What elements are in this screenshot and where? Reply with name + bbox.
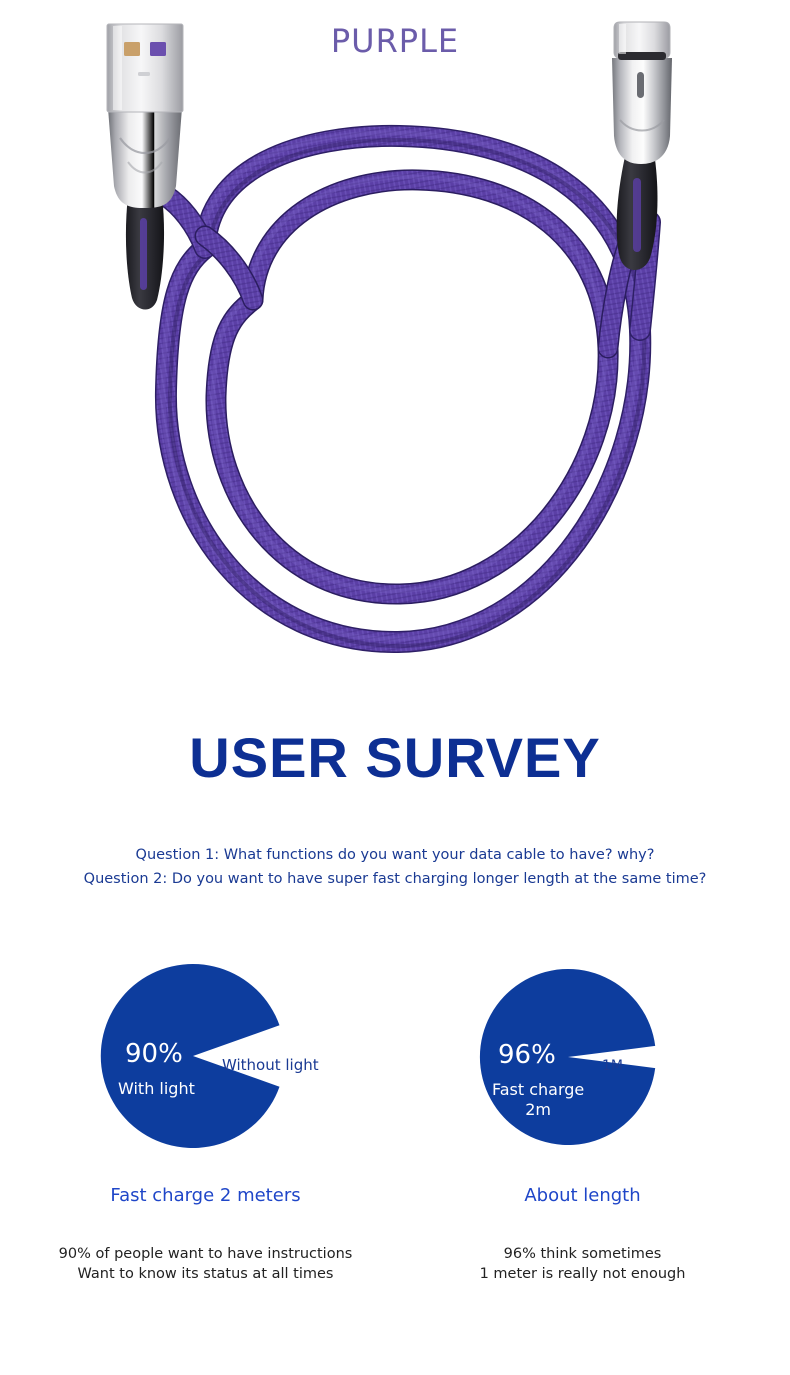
survey-questions: Question 1: What functions do you want y… xyxy=(0,843,790,891)
pie-outside-label-1m: 1M xyxy=(602,1059,623,1073)
chart-note-left: 90% of people want to have instructions … xyxy=(8,1244,403,1284)
product-image-area: PURPLE xyxy=(0,0,790,710)
pie-percent-with-light: 90% xyxy=(125,1041,183,1067)
survey-question-1: Question 1: What functions do you want y… xyxy=(0,843,790,867)
survey-question-2: Question 2: Do you want to have super fa… xyxy=(0,867,790,891)
usb-a-connector xyxy=(107,24,183,310)
chart-note-right-line1: 96% think sometimes xyxy=(385,1244,780,1264)
chart-caption-about-length: About length xyxy=(385,1184,780,1208)
pie-chart-svg xyxy=(0,945,395,1150)
chart-with-light xyxy=(0,945,395,1175)
pie-outside-label-without-light: Without light xyxy=(222,1058,319,1073)
cable-loop xyxy=(163,133,650,646)
chart-note-left-line2: Want to know its status at all times xyxy=(8,1264,403,1284)
pie-percent-fast-charge: 96% xyxy=(498,1042,556,1068)
pie-chart-svg xyxy=(395,945,790,1150)
pie-inside-label-fast-charge: Fast charge 2m xyxy=(492,1080,584,1120)
chart-note-right-line2: 1 meter is really not enough xyxy=(385,1264,780,1284)
chart-caption-fast-charge-2-meters: Fast charge 2 meters xyxy=(8,1184,403,1208)
pie-inside-label-with-light: With light xyxy=(118,1079,195,1099)
chart-note-right: 96% think sometimes 1 meter is really no… xyxy=(385,1244,780,1284)
pie-inside-label-line1: Fast charge xyxy=(492,1080,584,1099)
pie-with-light xyxy=(0,945,395,1150)
usb-cable-illustration xyxy=(0,0,790,710)
chart-note-left-line1: 90% of people want to have instructions xyxy=(8,1244,403,1264)
page-title: USER SURVEY xyxy=(0,723,790,793)
product-color-label: PURPLE xyxy=(0,22,790,60)
pie-about-length xyxy=(395,945,790,1150)
pie-inside-label-line2: 2m xyxy=(525,1100,551,1119)
chart-about-length xyxy=(395,945,790,1175)
survey-charts xyxy=(0,945,790,1175)
